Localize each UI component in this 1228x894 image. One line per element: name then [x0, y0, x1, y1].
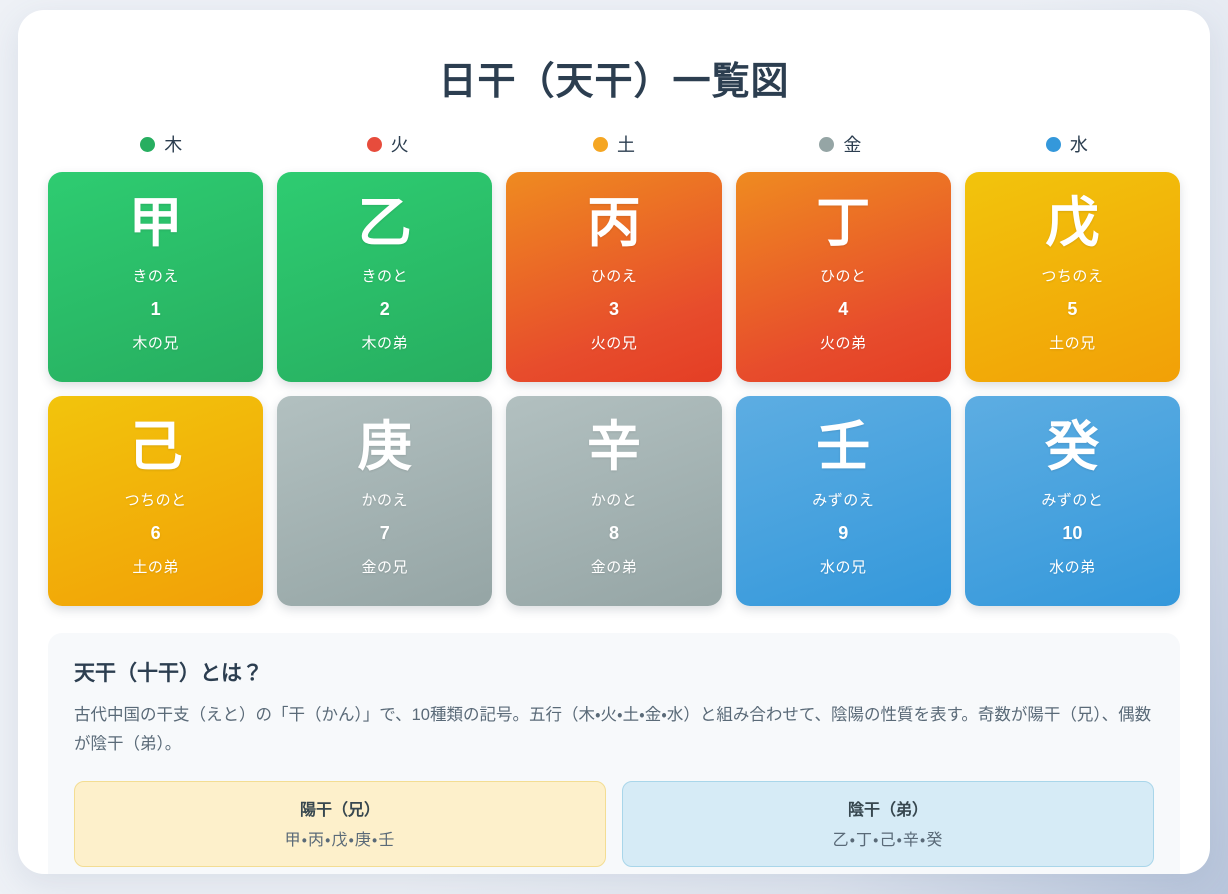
yin-list: 乙・丁・己・辛・癸: [633, 826, 1143, 850]
stem-reading: つちのと: [125, 489, 187, 510]
stem-reading: ひのえ: [591, 265, 638, 286]
stem-card-10[interactable]: 癸 みずのと 10 水の弟: [965, 396, 1180, 606]
stem-card-6[interactable]: 己 つちのと 6 土の弟: [48, 396, 263, 606]
info-panel: 天干（十干）とは？ 古代中国の干支（えと）の「干（かん）」で、10種類の記号。五…: [48, 633, 1180, 874]
legend-item-water: 水: [954, 131, 1180, 157]
stem-number: 3: [609, 299, 619, 320]
stem-card-9[interactable]: 壬 みずのえ 9 水の兄: [736, 396, 951, 606]
stem-number: 1: [151, 299, 161, 320]
stem-character: 己: [129, 419, 183, 476]
stem-character: 戊: [1045, 195, 1099, 252]
stem-character: 辛: [587, 419, 641, 476]
legend-label-water: 水: [1070, 131, 1088, 157]
stem-element: 金の兄: [362, 556, 409, 577]
stem-card-4[interactable]: 丁 ひのと 4 火の弟: [736, 172, 951, 382]
stem-character: 丙: [587, 195, 641, 252]
stem-element: 土の兄: [1049, 332, 1096, 353]
stem-element: 火の弟: [820, 332, 867, 353]
info-body: 古代中国の干支（えと）の「干（かん）」で、10種類の記号。五行（木・火・土・金・…: [74, 701, 1154, 759]
stem-reading: かのと: [591, 489, 638, 510]
legend-dot-fire-icon: [367, 137, 382, 152]
stem-element: 水の兄: [820, 556, 867, 577]
stem-element: 水の弟: [1049, 556, 1096, 577]
yang-heading: 陽干（兄）: [85, 796, 595, 820]
stem-reading: みずのと: [1041, 489, 1103, 510]
stem-character: 庚: [358, 419, 412, 476]
stem-card-5[interactable]: 戊 つちのえ 5 土の兄: [965, 172, 1180, 382]
stem-character: 壬: [816, 419, 870, 476]
stem-element: 木の弟: [362, 332, 409, 353]
stem-reading: きのえ: [132, 265, 179, 286]
stem-number: 6: [151, 523, 161, 544]
info-title: 天干（十干）とは？: [74, 657, 1154, 687]
stem-card-8[interactable]: 辛 かのと 8 金の弟: [506, 396, 721, 606]
legend-label-metal: 金: [843, 131, 861, 157]
stem-card-2[interactable]: 乙 きのと 2 木の弟: [277, 172, 492, 382]
yin-box: 陰干（弟） 乙・丁・己・辛・癸: [622, 781, 1154, 867]
stem-element: 木の兄: [132, 332, 179, 353]
stem-number: 4: [838, 299, 848, 320]
stem-card-7[interactable]: 庚 かのえ 7 金の兄: [277, 396, 492, 606]
stem-character: 丁: [816, 195, 870, 252]
stem-number: 2: [380, 299, 390, 320]
legend-label-fire: 火: [391, 131, 409, 157]
stem-number: 7: [380, 523, 390, 544]
legend-item-fire: 火: [274, 131, 500, 157]
element-legend: 木 火 土 金 水: [18, 131, 1210, 157]
stem-card-3[interactable]: 丙 ひのえ 3 火の兄: [506, 172, 721, 382]
stem-element: 金の弟: [591, 556, 638, 577]
stem-reading: つちのえ: [1041, 265, 1103, 286]
stem-character: 癸: [1045, 419, 1099, 476]
stem-element: 土の弟: [132, 556, 179, 577]
legend-item-earth: 土: [501, 131, 727, 157]
stem-number: 8: [609, 523, 619, 544]
stem-number: 10: [1062, 523, 1082, 544]
page-title: 日干（天干）一覧図: [18, 10, 1210, 105]
yin-heading: 陰干（弟）: [633, 796, 1143, 820]
main-panel: 日干（天干）一覧図 木 火 土 金 水 甲 きのえ 1 木の兄: [18, 10, 1210, 874]
legend-item-wood: 木: [48, 131, 274, 157]
stem-character: 乙: [358, 195, 412, 252]
stem-reading: みずのえ: [812, 489, 874, 510]
legend-dot-metal-icon: [819, 137, 834, 152]
stem-element: 火の兄: [591, 332, 638, 353]
legend-dot-wood-icon: [140, 137, 155, 152]
yang-list: 甲・丙・戊・庚・壬: [85, 826, 595, 850]
legend-item-metal: 金: [727, 131, 953, 157]
polarity-row: 陽干（兄） 甲・丙・戊・庚・壬 陰干（弟） 乙・丁・己・辛・癸: [74, 781, 1154, 867]
stem-character: 甲: [129, 195, 183, 252]
stem-reading: きのと: [362, 265, 409, 286]
legend-label-wood: 木: [164, 131, 182, 157]
stem-reading: かのえ: [362, 489, 409, 510]
stem-number: 5: [1067, 299, 1077, 320]
yang-box: 陽干（兄） 甲・丙・戊・庚・壬: [74, 781, 606, 867]
legend-label-earth: 土: [617, 131, 635, 157]
stem-grid: 甲 きのえ 1 木の兄 乙 きのと 2 木の弟 丙 ひのえ 3 火の兄 丁 ひの…: [48, 172, 1180, 606]
stem-card-1[interactable]: 甲 きのえ 1 木の兄: [48, 172, 263, 382]
legend-dot-water-icon: [1046, 137, 1061, 152]
legend-dot-earth-icon: [593, 137, 608, 152]
stem-reading: ひのと: [820, 265, 867, 286]
stem-number: 9: [838, 523, 848, 544]
